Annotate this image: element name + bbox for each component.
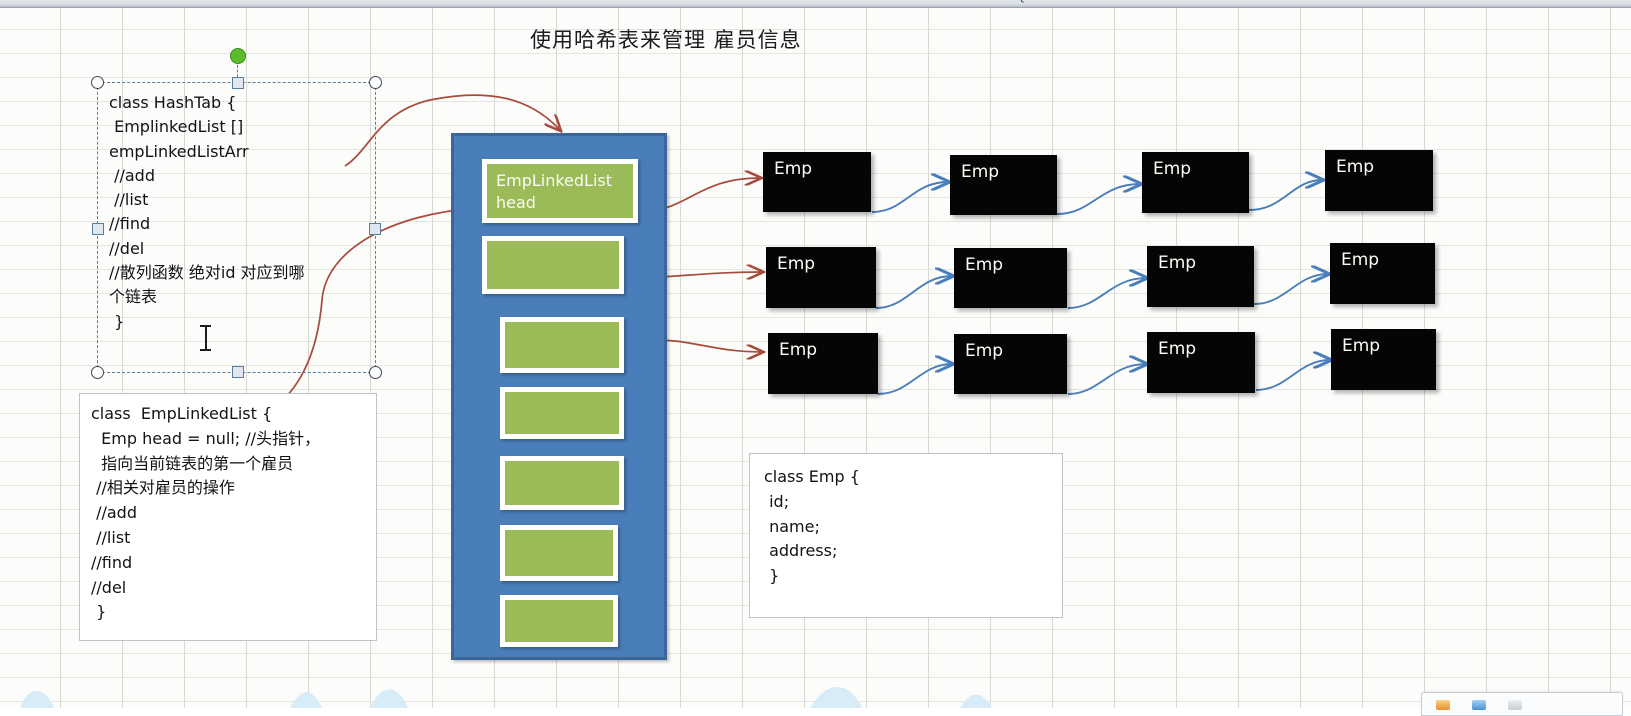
emp-node-r2-c4[interactable]: Emp	[1330, 243, 1435, 304]
column-header-B[interactable]: B	[60, 0, 122, 3]
column-header-V[interactable]: V	[1300, 0, 1362, 3]
emp-node-r3-c3[interactable]: Emp	[1147, 332, 1255, 393]
array-slot-0[interactable]: EmpLinkedList head	[482, 159, 638, 223]
emp-node-label: Emp	[961, 162, 999, 182]
resize-handle-bottom-left[interactable]	[91, 366, 104, 379]
emp-node-r2-c3[interactable]: Emp	[1147, 246, 1254, 307]
emp-node-r1-c4[interactable]: Emp	[1325, 150, 1433, 211]
emp-node-r3-c1[interactable]: Emp	[768, 333, 878, 394]
emp-node-label: Emp	[777, 254, 815, 274]
hashtab-textbox-text: class HashTab { EmplinkedList [] empLink…	[109, 91, 372, 334]
column-header-T[interactable]: T	[1176, 0, 1238, 3]
column-header-P[interactable]: P	[928, 0, 990, 3]
column-header-H[interactable]: H	[432, 0, 494, 3]
column-header-U[interactable]: U	[1238, 0, 1300, 3]
emp-node-label: Emp	[1342, 336, 1380, 356]
array-slot-0-label: EmpLinkedList head	[496, 170, 629, 214]
resize-handle-middle-left[interactable]	[92, 223, 104, 235]
emp-node-label: Emp	[1336, 157, 1374, 177]
column-header-E[interactable]: E	[246, 0, 308, 3]
resize-handle-middle-right[interactable]	[369, 223, 381, 235]
column-header-Q[interactable]: Q	[990, 0, 1052, 3]
column-header-X[interactable]: X	[1424, 0, 1486, 3]
column-header-K[interactable]: K	[618, 0, 680, 3]
resize-handle-top-right[interactable]	[369, 76, 382, 89]
rotation-handle[interactable]	[230, 48, 246, 64]
array-slot-6[interactable]	[500, 595, 618, 647]
column-header-N[interactable]: N	[804, 0, 866, 3]
array-slot-4[interactable]	[500, 456, 624, 510]
column-header-W[interactable]: W	[1362, 0, 1424, 3]
emp-node-label: Emp	[1153, 159, 1191, 179]
emp-node-label: Emp	[965, 255, 1003, 275]
resize-handle-top-center[interactable]	[232, 77, 244, 89]
array-slot-1[interactable]	[482, 236, 624, 294]
emp-node-r2-c2[interactable]: Emp	[954, 248, 1067, 308]
emp-node-label: Emp	[965, 341, 1003, 361]
emp-node-label: Emp	[774, 159, 812, 179]
column-header-G[interactable]: G	[370, 0, 432, 3]
column-header-F[interactable]: F	[308, 0, 370, 3]
column-header-O[interactable]: O	[866, 0, 928, 3]
emp-class-textbox[interactable]: class Emp { id; name; address; }	[749, 453, 1063, 618]
text-cursor-icon	[200, 325, 211, 351]
resize-handle-bottom-center[interactable]	[232, 366, 244, 378]
orange-mini-icon	[1436, 700, 1450, 710]
emplinkedlist-textbox-text: class EmpLinkedList { Emp head = null; /…	[91, 402, 370, 625]
emp-node-r2-c1[interactable]: Emp	[766, 247, 876, 308]
blue-mini-icon	[1472, 700, 1486, 710]
emp-node-r3-c4[interactable]: Emp	[1331, 329, 1436, 390]
emp-node-label: Emp	[1341, 250, 1379, 270]
emp-node-label: Emp	[1158, 253, 1196, 273]
emp-node-label: Emp	[779, 340, 817, 360]
column-header-D[interactable]: D	[184, 0, 246, 3]
emplinkedlist-textbox[interactable]: class EmpLinkedList { Emp head = null; /…	[79, 393, 377, 641]
column-header-R[interactable]: R	[1052, 0, 1114, 3]
emp-node-r1-c3[interactable]: Emp	[1142, 152, 1249, 213]
array-slot-2[interactable]	[500, 317, 624, 373]
column-header-I[interactable]: I	[494, 0, 556, 3]
column-header-Z[interactable]: Z	[1548, 0, 1610, 3]
grey-mini-icon	[1508, 700, 1522, 710]
column-header-J[interactable]: J	[556, 0, 618, 3]
column-header-A[interactable]: A	[0, 0, 60, 3]
emp-node-r1-c2[interactable]: Emp	[950, 155, 1057, 215]
column-header-C[interactable]: C	[122, 0, 184, 3]
column-header-row[interactable]: ABCDEFGHIJKLMNOPQRSTUVWXYZ	[0, 0, 1631, 8]
column-header-S[interactable]: S	[1114, 0, 1176, 3]
column-header-M[interactable]: M	[742, 0, 804, 3]
array-slot-5[interactable]	[500, 525, 618, 581]
resize-handle-bottom-right[interactable]	[369, 366, 382, 379]
page-title: 使用哈希表来管理 雇员信息	[530, 24, 802, 54]
emp-class-textbox-text: class Emp { id; name; address; }	[764, 465, 1056, 589]
emp-node-r3-c2[interactable]: Emp	[954, 334, 1067, 394]
column-header-L[interactable]: L	[680, 0, 742, 3]
status-popup[interactable]	[1421, 692, 1623, 716]
column-header-Y[interactable]: Y	[1486, 0, 1548, 3]
resize-handle-top-left[interactable]	[91, 76, 104, 89]
emplinkedlist-array-panel[interactable]: EmpLinkedList head	[451, 133, 667, 660]
emp-node-r1-c1[interactable]: Emp	[763, 152, 871, 212]
array-slot-3[interactable]	[500, 387, 624, 439]
emp-node-label: Emp	[1158, 339, 1196, 359]
hashtab-textbox[interactable]: class HashTab { EmplinkedList [] empLink…	[97, 82, 376, 373]
